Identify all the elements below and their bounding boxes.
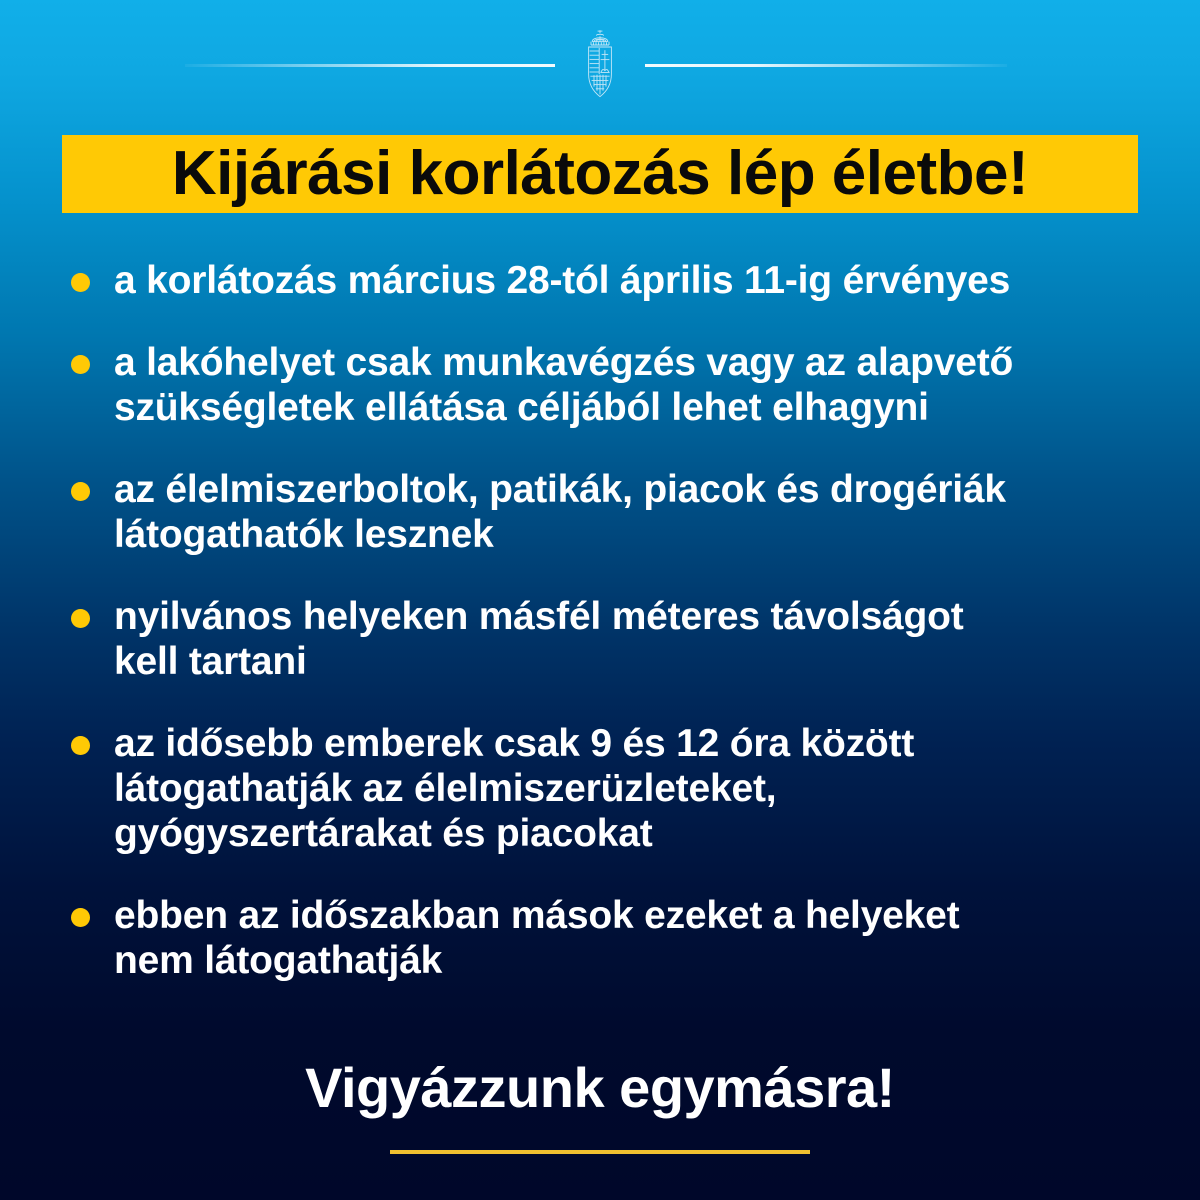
list-item-label: nyilvános helyeken másfél méteres távols…	[114, 594, 1162, 684]
title-banner: Kijárási korlátozás lép életbe!	[62, 135, 1138, 213]
hungarian-coat-of-arms-icon	[575, 28, 625, 100]
poster-footer: Vigyázzunk egymásra!	[0, 1055, 1200, 1121]
bullet-dot-icon	[71, 273, 90, 292]
list-item: ebben az időszakban mások ezeket a helye…	[62, 893, 1162, 983]
list-item-label: az idősebb emberek csak 9 és 12 óra közö…	[114, 721, 1162, 856]
bullet-dot-icon	[71, 736, 90, 755]
list-item-label: a korlátozás március 28-tól április 11-i…	[114, 258, 1162, 303]
footer-divider	[390, 1150, 810, 1154]
bullet-dot-icon	[71, 908, 90, 927]
bullet-dot-icon	[71, 482, 90, 501]
list-item: az élelmiszerboltok, patikák, piacok és …	[62, 467, 1162, 557]
bullet-list: a korlátozás március 28-tól április 11-i…	[62, 258, 1162, 1020]
header-divider-left	[185, 64, 555, 67]
list-item-label: a lakóhelyet csak munkavégzés vagy az al…	[114, 340, 1162, 430]
poster-header	[0, 0, 1200, 125]
bullet-dot-icon	[71, 355, 90, 374]
header-divider-right	[645, 64, 1007, 67]
list-item: az idősebb emberek csak 9 és 12 óra közö…	[62, 721, 1162, 856]
list-item-label: ebben az időszakban mások ezeket a helye…	[114, 893, 1162, 983]
list-item: nyilvános helyeken másfél méteres távols…	[62, 594, 1162, 684]
list-item-label: az élelmiszerboltok, patikák, piacok és …	[114, 467, 1162, 557]
footer-slogan: Vigyázzunk egymásra!	[0, 1055, 1200, 1121]
list-item: a lakóhelyet csak munkavégzés vagy az al…	[62, 340, 1162, 430]
page-title: Kijárási korlátozás lép életbe!	[172, 143, 1028, 205]
list-item: a korlátozás március 28-tól április 11-i…	[62, 258, 1162, 303]
bullet-dot-icon	[71, 609, 90, 628]
poster-canvas: Kijárási korlátozás lép életbe! a korlát…	[0, 0, 1200, 1200]
